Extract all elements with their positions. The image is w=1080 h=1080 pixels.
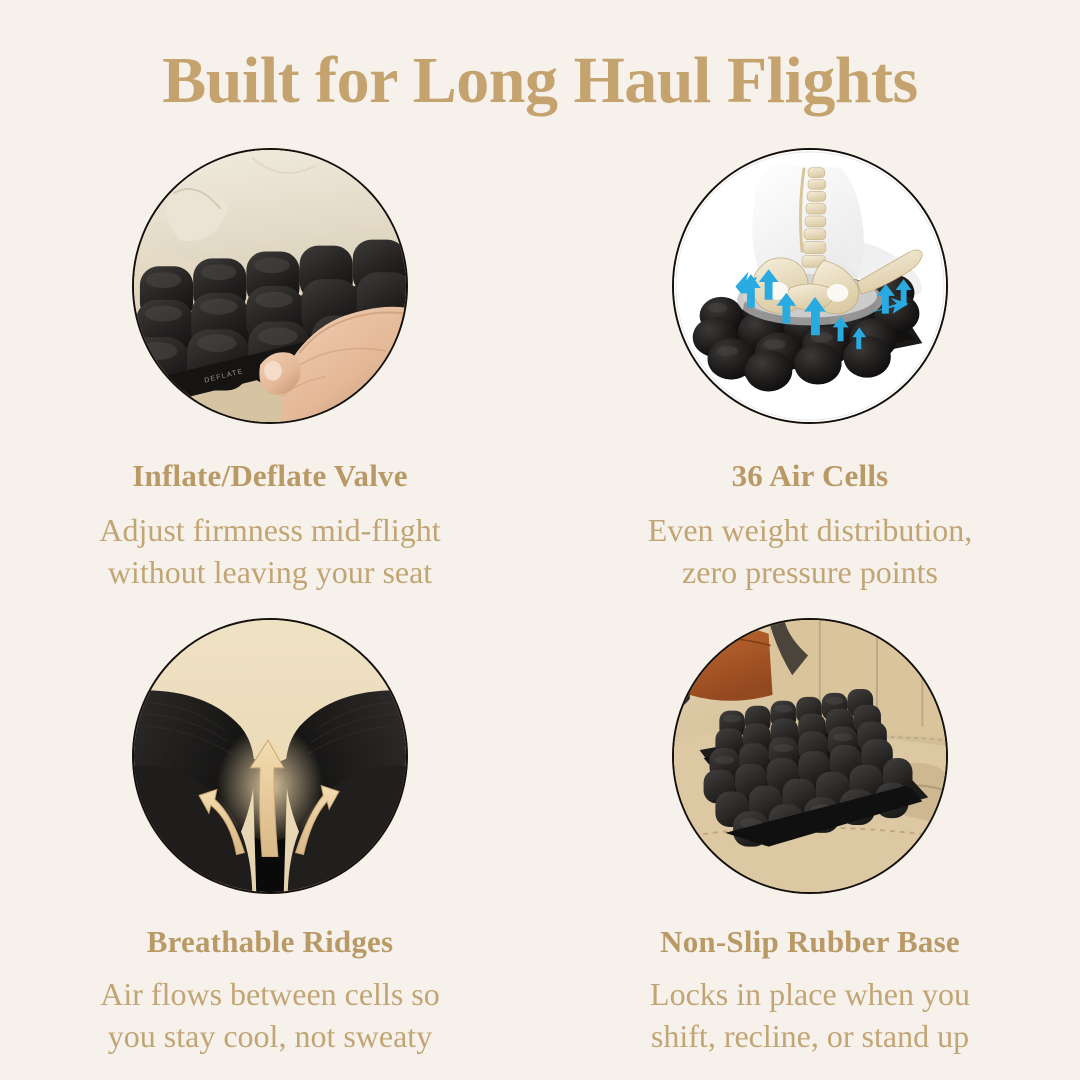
feature-desc-line-1: Air flows between cells so (20, 974, 520, 1016)
feature-desc-line-2: you stay cool, not sweaty (20, 1016, 520, 1058)
feature-caption: 36 Air Cells Even weight distribution, z… (560, 424, 1060, 593)
feature-desc-line-2: without leaving your seat (20, 552, 520, 594)
feature-desc-line-1: Even weight distribution, (560, 510, 1060, 552)
feature-description: Air flows between cells so you stay cool… (20, 974, 520, 1057)
feature-caption: Breathable Ridges Air flows between cell… (20, 894, 520, 1057)
feature-description: Adjust firmness mid-flight without leavi… (20, 510, 520, 593)
feature-desc-line-1: Locks in place when you (560, 974, 1060, 1016)
feature-description: Even weight distribution, zero pressure … (560, 510, 1060, 593)
feature-desc-line-2: shift, recline, or stand up (560, 1016, 1060, 1058)
feature-title: Non-Slip Rubber Base (560, 924, 1060, 960)
feature-grid: DEFLATE Inflate/Deflate Valve Adjust fir… (0, 148, 1080, 1080)
pelvis-pressure-diagram (672, 148, 948, 424)
page-title-wrap: Built for Long Haul Flights (0, 46, 1080, 115)
feature-title: 36 Air Cells (560, 458, 1060, 494)
feature-title: Inflate/Deflate Valve (20, 458, 520, 494)
feature-desc-line-1: Adjust firmness mid-flight (20, 510, 520, 552)
feature-card-breathable-ridges: Breathable Ridges Air flows between cell… (0, 618, 540, 1080)
page-title: Built for Long Haul Flights (0, 46, 1080, 115)
feature-card-36-air-cells: 36 Air Cells Even weight distribution, z… (540, 148, 1080, 618)
feature-description: Locks in place when you shift, recline, … (560, 974, 1060, 1057)
feature-desc-line-2: zero pressure points (560, 552, 1060, 594)
feature-card-non-slip-rubber-base: Non-Slip Rubber Base Locks in place when… (540, 618, 1080, 1080)
airflow-channel-closeup (132, 618, 408, 894)
cushion-on-car-seat-photo (672, 618, 948, 894)
feature-caption: Non-Slip Rubber Base Locks in place when… (560, 894, 1060, 1057)
feature-card-inflate-deflate-valve: DEFLATE Inflate/Deflate Valve Adjust fir… (0, 148, 540, 618)
infographic-page: Built for Long Haul Flights (0, 0, 1080, 1080)
feature-caption: Inflate/Deflate Valve Adjust firmness mi… (20, 424, 520, 593)
hand-pressing-air-cushion-photo: DEFLATE (132, 148, 408, 424)
feature-title: Breathable Ridges (20, 924, 520, 960)
